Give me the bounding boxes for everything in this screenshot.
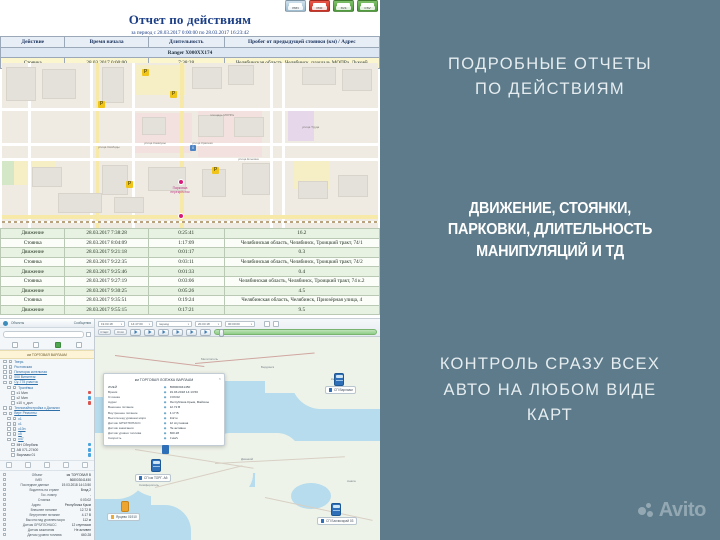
checkbox[interactable] — [3, 518, 6, 521]
object-tree: −Тверь−Ростовская−Пятигорск котельная−00… — [0, 359, 94, 458]
popup-value: Республика Крым, Майское — [170, 400, 220, 404]
checkbox[interactable] — [3, 488, 6, 491]
promo-line: ПОДРОБНЫЕ ОТЧЕТЫ — [380, 52, 720, 77]
expand-icon[interactable]: − — [9, 412, 13, 416]
calendar-icon[interactable] — [264, 321, 270, 327]
table-row: Движение28.03.2017 9:30:250:05:264.5 — [1, 286, 380, 296]
cell-start: 28.03.2017 9:55:15 — [65, 305, 148, 315]
popup-row: Высота над уровнем моря◉112 м — [108, 415, 220, 420]
table-row: Движение28.03.2017 9:25:460:01:330.4 — [1, 267, 380, 277]
sensor-icon: ◉ — [161, 385, 170, 389]
expand-icon[interactable]: − — [9, 360, 13, 364]
tab-messages[interactable]: Сообщения — [74, 321, 91, 325]
tree-item-label: Верт Ремонты — [14, 411, 37, 415]
street-label: улица Елькина — [238, 157, 259, 161]
alert-marker[interactable] — [121, 501, 129, 512]
list-view-icon[interactable] — [12, 342, 18, 348]
date-to-input[interactable]: 20.03.18▾ — [195, 321, 222, 327]
status-badge — [88, 448, 92, 452]
object-properties: Объекткм ТОРГОВАЯ ВIMEI868003041450После… — [0, 471, 94, 540]
city-label: Мелитополь — [201, 357, 218, 361]
popup-value: 868003041450 — [170, 385, 220, 389]
property-key: Стоянка — [38, 498, 50, 502]
expand-icon[interactable]: − — [9, 381, 13, 385]
expand-icon[interactable]: − — [13, 438, 17, 442]
checkbox[interactable] — [7, 432, 11, 436]
popup-row: ИМЕЙ◉868003041450 — [108, 385, 220, 390]
checkbox[interactable] — [3, 365, 7, 369]
parking-icon: P — [98, 101, 105, 108]
popup-key: Датчик зажигания — [108, 426, 161, 430]
cell-address: Челябинская область, Челябинск, Троицкий… — [224, 276, 379, 286]
promo-headline-2: ДВИЖЕНИЕ, СТОЯНКИ, ПАРКОВКИ, ДЛИТЕЛЬНОСТ… — [380, 198, 720, 262]
popup-header: км ТОРГОВАЯ ЛОЁЖКА ВАРЛААМ × — [104, 374, 224, 385]
promo-line: АВТО НА ЛЮБОМ ВИДЕ — [380, 378, 720, 404]
property-key: Внутреннее питание — [30, 513, 60, 517]
cell-action: Движение — [1, 267, 65, 277]
checkbox[interactable] — [3, 533, 6, 536]
online-status-icon[interactable] — [55, 342, 61, 348]
cell-address: Челябинская область, Челябинск, Троицкий… — [224, 257, 379, 267]
popup-value: 12 спутников — [170, 421, 220, 425]
sensor-icon: ◉ — [161, 421, 170, 425]
info-poi-icon: i — [190, 145, 196, 151]
property-value: - — [90, 493, 91, 497]
popup-row: Внутреннее питание◉4.17 В — [108, 410, 220, 415]
tree-item-label: Технолайнстройка к.Дальних — [14, 406, 60, 410]
stop-button[interactable]: Стоп — [114, 329, 127, 335]
cell-start: 28.03.2017 8:04:09 — [65, 238, 148, 248]
vehicle-group-row: Ranger X000XX174 — [1, 48, 380, 58]
speed-slider[interactable] — [214, 329, 377, 335]
cell-start: 28.03.2017 7:38:28 — [65, 229, 148, 239]
sensor-icon: ◉ — [161, 405, 170, 409]
tree-item-label: с47 — [18, 437, 23, 441]
checkbox[interactable] — [7, 386, 11, 390]
tree-item-label: с1 Мин — [17, 391, 28, 395]
checkbox[interactable] — [11, 396, 15, 400]
checkbox[interactable] — [3, 513, 6, 516]
expand-icon[interactable]: − — [13, 417, 17, 421]
property-value: 12 спутников — [72, 523, 91, 527]
property-key: Датчик GPS/ГЛОНАСС — [23, 523, 57, 527]
parking-icon: P — [212, 167, 219, 174]
promo-line: МАНИПУЛЯЦИЙ И ТД — [392, 241, 708, 262]
tree-item-label: АВ 071-27400 — [17, 448, 39, 452]
popup-value: 0:03:02 — [170, 395, 220, 399]
cell-action: Стоянка — [1, 296, 65, 306]
step-back-icon[interactable] — [130, 329, 141, 336]
property-row: Датчик уровня топлива660.28 — [3, 533, 91, 538]
sensor-icon: ◉ — [161, 411, 170, 415]
popup-key: Датчик GPS/ГЛОНАСС — [108, 421, 161, 425]
checkbox[interactable] — [11, 443, 15, 447]
screenshot-root: PRN PDF XLS CSV Отчет по действиям за пе… — [0, 0, 720, 540]
popup-key: Время — [108, 390, 161, 394]
rewind-icon[interactable] — [144, 329, 155, 336]
prev-point-icon[interactable] — [158, 329, 169, 336]
vehicle-marker-label[interactable]: СП Варлаам — [325, 386, 356, 394]
report-period: за период с 28.03.2017 0:00:00 по 28.03.… — [0, 28, 380, 36]
property-value: 0:03:02 — [80, 498, 91, 502]
more-icon[interactable] — [82, 462, 88, 468]
checkbox[interactable] — [3, 503, 6, 506]
property-key: IMEI — [35, 478, 42, 482]
tree-item-label: МН Сбербанк — [17, 443, 38, 447]
cell-address: 16.2 — [224, 229, 379, 239]
cell-action: Стоянка — [1, 257, 65, 267]
expand-icon[interactable]: − — [13, 432, 17, 436]
cell-address: Челябинская область, Челябинск, Приозёрн… — [224, 296, 379, 306]
refresh-icon[interactable] — [25, 462, 31, 468]
cell-duration: 1:17:09 — [148, 238, 224, 248]
tree-item-label: Ростовская — [14, 365, 32, 369]
vehicle-marker[interactable] — [151, 459, 161, 472]
popup-value: Не активен — [170, 426, 220, 430]
property-key: Датчик зажигания — [28, 528, 54, 532]
cell-duration: 0:03:06 — [148, 276, 224, 286]
print-icon[interactable]: PRN — [285, 0, 306, 12]
property-value: 19.03.2018 14:13:50 — [62, 483, 91, 487]
city-label: Анапа — [347, 479, 356, 483]
status-badge — [88, 396, 92, 400]
popup-pointer-marker — [162, 445, 169, 454]
tree-item-label: Варлаам 01 — [17, 453, 36, 457]
table-header-row: Действие Время начала Длительность Пробе… — [1, 37, 380, 48]
cell-address: 0.4 — [224, 267, 379, 277]
checkbox[interactable] — [3, 483, 6, 486]
city-label: Джанкой — [241, 457, 253, 461]
tree-item-label: с10н — [18, 427, 25, 431]
filter-icon[interactable] — [86, 332, 91, 337]
export-track-icon[interactable] — [273, 321, 279, 327]
play-icon[interactable] — [172, 329, 183, 336]
popup-row: Датчик зажигания◉Не активен — [108, 425, 220, 430]
tab-objects[interactable]: Объекты — [11, 321, 24, 325]
checkbox[interactable] — [11, 401, 15, 405]
popup-value: 12.72 В — [170, 405, 220, 409]
table-row: Движение28.03.2017 9:55:150:17:219.5 — [1, 305, 380, 315]
street-label: улица Свободы — [98, 145, 120, 149]
popup-value: 19.03.2018 14:13:50 — [170, 390, 220, 394]
stop-marker[interactable] — [178, 179, 184, 185]
property-key: Адрес — [32, 503, 41, 507]
checkbox[interactable] — [11, 391, 15, 395]
cell-action: Стоянка — [1, 276, 65, 286]
status-badge — [88, 391, 92, 395]
checkbox[interactable] — [11, 453, 15, 457]
stop-marker[interactable] — [178, 213, 184, 219]
popup-row: Датчик GPS/ГЛОНАСС◉12 спутников — [108, 420, 220, 425]
status-badge — [88, 443, 92, 447]
property-key: Датчик уровня топлива — [27, 533, 61, 537]
interval-select[interactable]: период▾ — [156, 321, 192, 327]
cell-duration: 0:01:17 — [148, 248, 224, 258]
popup-key: Высота над уровнем моря — [108, 416, 161, 420]
popup-row: Стоянка◉0:03:02 — [108, 395, 220, 400]
property-key: Высота над уровнем моря — [26, 518, 65, 522]
pdf-export-icon[interactable]: PDF — [309, 0, 330, 12]
tracking-app-window: Объекты Сообщения км ТОРГОВАЯ ВАРЛААМ −Т… — [0, 318, 380, 540]
sensor-icon: ◉ — [161, 426, 170, 430]
export-buttons: PRN PDF XLS CSV — [285, 0, 378, 12]
street-label: улица Красная — [192, 141, 213, 145]
sensor-icon: ◉ — [161, 390, 170, 394]
checkbox[interactable] — [11, 448, 15, 452]
table-row: Стоянка28.03.2017 9:22:350:03:11Челябинс… — [1, 257, 380, 267]
promo-line: ДВИЖЕНИЕ, СТОЯНКИ, — [392, 198, 708, 219]
chart-icon[interactable] — [63, 462, 69, 468]
table-row: Стоянка28.03.2017 9:35:510:19:24Челябинс… — [1, 296, 380, 306]
vehicle-info-popup: км ТОРГОВАЯ ЛОЁЖКА ВАРЛААМ × ИМЕЙ◉868003… — [103, 373, 225, 446]
sensor-icon: ◉ — [161, 436, 170, 440]
search-row — [0, 328, 94, 341]
sensor-icon: ◉ — [161, 395, 170, 399]
objects-sidebar: Объекты Сообщения км ТОРГОВАЯ ВАРЛААМ −Т… — [0, 319, 95, 540]
region-map[interactable]: Мелитополь Бердянск Джанкой Керчь Симфер… — [95, 337, 380, 540]
cell-duration: 0:17:21 — [148, 305, 224, 315]
promo-line: ПАРКОВКИ, ДЛИТЕЛЬНОСТЬ — [392, 219, 708, 240]
parking-icon: P — [170, 91, 177, 98]
cell-start: 28.03.2017 9:21:18 — [65, 248, 148, 258]
expand-icon[interactable]: − — [13, 386, 17, 390]
promo-line: КОНТРОЛЬ СРАЗУ ВСЕХ — [380, 352, 720, 378]
property-value: км ТОРГОВАЯ В — [67, 473, 91, 477]
tree-item-label: с2 Мин — [17, 396, 28, 400]
checkbox[interactable] — [7, 422, 11, 426]
popup-value: 4.17 В — [170, 411, 220, 415]
clock-icon[interactable] — [44, 462, 50, 468]
checkbox[interactable] — [7, 427, 11, 431]
cell-address: Челябинская область, Челябинск, Троицкий… — [224, 238, 379, 248]
search-input[interactable] — [3, 331, 84, 338]
forward-icon[interactable] — [200, 329, 211, 336]
promo-line: КАРТ — [380, 403, 720, 429]
popup-key: Датчик уровня топлива — [108, 431, 161, 435]
cell-action: Движение — [1, 286, 65, 296]
checkbox[interactable] — [3, 478, 6, 481]
date-range-row: 19.03.18▾ 14:47:00▾ период▾ 20.03.18▾ 00… — [95, 319, 380, 327]
property-value: 868003041450 — [70, 478, 91, 482]
col-duration: Длительность — [148, 37, 224, 48]
checkbox[interactable] — [3, 473, 6, 476]
sensor-icon: ◉ — [161, 416, 170, 420]
sensor-icon: ◉ — [161, 400, 170, 404]
parking-icon: P — [126, 181, 133, 188]
tree-item-label: с1 — [18, 417, 22, 421]
expand-icon[interactable]: − — [9, 370, 13, 374]
expand-icon[interactable]: − — [13, 427, 17, 431]
property-value: Влад 2 — [81, 488, 91, 492]
cell-address: 0.3 — [224, 248, 379, 258]
city-map[interactable]: P P P P P i Парковкаперекрёсток площадь … — [2, 63, 378, 228]
checkbox[interactable] — [3, 360, 7, 364]
promo-headline-3: КОНТРОЛЬ СРАЗУ ВСЕХ АВТО НА ЛЮБОМ ВИДЕ К… — [380, 352, 720, 429]
checkbox[interactable] — [7, 417, 11, 421]
cell-start: 28.03.2017 9:25:46 — [65, 267, 148, 277]
col-action: Действие — [1, 37, 65, 48]
popup-value: 0 км/ч — [170, 436, 220, 440]
checkbox[interactable] — [3, 381, 7, 385]
xls-export-icon[interactable]: XLS — [333, 0, 354, 12]
tree-item[interactable]: Варлаам 01 — [0, 452, 94, 457]
popup-row: Адрес◉Республика Крым, Майское — [108, 400, 220, 405]
cell-action: Движение — [1, 229, 65, 239]
tree-item-label: с5 — [18, 432, 22, 436]
popup-row: Датчик уровня топлива◉660.28 — [108, 430, 220, 435]
cell-duration: 0:03:11 — [148, 257, 224, 267]
popup-row: Время◉19.03.2018 14:13:50 — [108, 390, 220, 395]
tree-item-label: Пятигорск котельная — [14, 370, 47, 374]
street-label: улица Коммуны — [144, 141, 166, 145]
tree-item-label: с1 — [18, 422, 22, 426]
cell-start: 28.03.2017 9:22:35 — [65, 257, 148, 267]
vehicle-marker[interactable] — [334, 373, 344, 386]
checkbox[interactable] — [3, 493, 6, 496]
edit-icon[interactable] — [6, 462, 12, 468]
time-to-input[interactable]: 00:00:00▾ — [225, 321, 255, 327]
table-row: Движение28.03.2017 7:38:280:25:4116.2 — [1, 229, 380, 239]
status-badge — [88, 453, 92, 457]
cell-duration: 0:25:41 — [148, 229, 224, 239]
next-point-icon[interactable] — [186, 329, 197, 336]
date-from-input[interactable]: 19.03.18▾ — [98, 321, 125, 327]
property-key: Последние данные — [20, 483, 49, 487]
property-key: Гос. номер — [41, 493, 57, 497]
checkbox[interactable] — [3, 370, 7, 374]
tree-item-label: Су-775 участок — [14, 380, 38, 384]
cell-start: 28.03.2017 9:30:25 — [65, 286, 148, 296]
cell-duration: 0:05:26 — [148, 286, 224, 296]
grid-view-icon[interactable] — [33, 342, 39, 348]
avito-logo-icon — [638, 502, 655, 519]
sidebar-icon-toolbar — [0, 341, 94, 350]
avito-watermark: Avito — [638, 499, 706, 522]
street-label: площадь МОПРа — [210, 113, 234, 117]
popup-key: Внутреннее питание — [108, 411, 161, 415]
property-key: Внешнее питание — [31, 508, 57, 512]
city-label: Бердянск — [261, 365, 274, 369]
playback-toolbar: 19.03.18▾ 14:47:00▾ период▾ 20.03.18▾ 00… — [95, 319, 380, 337]
objects-icon — [3, 321, 8, 326]
avito-wordmark: Avito — [659, 499, 706, 522]
marker-label: Парковкаперекрёсток — [158, 187, 202, 195]
cell-address: 9.5 — [224, 305, 379, 315]
expand-icon[interactable]: − — [13, 422, 17, 426]
cell-address: 4.5 — [224, 286, 379, 296]
tree-item-label: с10 ч_дол — [17, 401, 33, 405]
checkbox[interactable] — [3, 412, 7, 416]
property-key: Водитель на стране — [29, 488, 59, 492]
checkbox[interactable] — [3, 528, 6, 531]
property-value: 4.17 В — [82, 513, 91, 517]
vehicle-marker[interactable] — [331, 503, 341, 516]
street-label: улица Труда — [302, 125, 319, 129]
property-value: Республика Крым — [65, 503, 91, 507]
promo-line: ПО ДЕЙСТВИЯМ — [380, 77, 720, 102]
popup-key: Адрес — [108, 400, 161, 404]
property-value: 112 м — [83, 518, 91, 522]
csv-export-icon[interactable]: CSV — [357, 0, 378, 12]
expand-icon[interactable]: − — [9, 375, 13, 379]
cell-duration: 0:19:24 — [148, 296, 224, 306]
cell-start: 28.03.2017 9:27:19 — [65, 276, 148, 286]
vehicle-marker-label[interactable]: СП км ТОРГ. Ай — [135, 474, 171, 482]
settings-icon[interactable] — [76, 342, 82, 348]
playback-controls-row: Старт Стоп — [95, 327, 380, 338]
table-row: Стоянка28.03.2017 9:27:190:03:06Челябинс… — [1, 276, 380, 286]
promo-headline-1: ПОДРОБНЫЕ ОТЧЕТЫ ПО ДЕЙСТВИЯМ — [380, 52, 720, 102]
table-row: Движение28.03.2017 9:21:180:01:170.3 — [1, 248, 380, 258]
vehicle-marker-label[interactable]: СП Бахчисарай 03 — [317, 517, 357, 525]
property-value: 12.72 В — [80, 508, 91, 512]
parking-icon: P — [142, 69, 149, 76]
cell-start: 28.03.2017 9:35:51 — [65, 296, 148, 306]
property-key: Объект — [32, 473, 43, 477]
popup-value: 660.28 — [170, 431, 220, 435]
tree-item-label: Тралёвка — [18, 386, 33, 390]
close-icon[interactable]: × — [219, 377, 221, 381]
col-start-time: Время начала — [65, 37, 148, 48]
popup-key: Стоянка — [108, 395, 161, 399]
popup-key: Внешнее питание — [108, 405, 161, 409]
checkbox[interactable] — [3, 523, 6, 526]
cell-action: Стоянка — [1, 238, 65, 248]
left-collage: PRN PDF XLS CSV Отчет по действиям за пе… — [0, 0, 380, 540]
popup-title: км ТОРГОВАЯ ЛОЁЖКА ВАРЛААМ — [135, 378, 193, 382]
vehicle-name: Ranger X000XX174 — [1, 48, 380, 58]
checkbox[interactable] — [3, 375, 7, 379]
play-button[interactable]: Старт — [98, 329, 111, 335]
expand-icon[interactable]: − — [9, 406, 13, 410]
report-screenshot: PRN PDF XLS CSV Отчет по действиям за пе… — [0, 0, 380, 318]
status-badge — [88, 401, 92, 405]
checkbox[interactable] — [7, 438, 11, 442]
sidebar-group-title[interactable]: км ТОРГОВАЯ ВАРЛААМ — [0, 350, 94, 359]
tree-item-label: Тверь — [14, 360, 23, 364]
checkbox[interactable] — [3, 508, 6, 511]
sidebar-tabs: Объекты Сообщения — [0, 319, 94, 328]
detail-table: Движение28.03.2017 7:38:280:25:4116.2Сто… — [0, 228, 380, 315]
checkbox[interactable] — [3, 406, 7, 410]
expand-icon[interactable]: − — [9, 365, 13, 369]
property-value: Не активен — [74, 528, 91, 532]
cell-action: Движение — [1, 248, 65, 258]
popup-value: 112 м — [170, 416, 220, 420]
sensor-icon: ◉ — [161, 431, 170, 435]
promo-panel: ПОДРОБНЫЕ ОТЧЕТЫ ПО ДЕЙСТВИЯМ ДВИЖЕНИЕ, … — [380, 0, 720, 540]
alert-marker-label[interactable]: Ярцево 01910 — [107, 513, 140, 521]
popup-rows: ИМЕЙ◉868003041450Время◉19.03.2018 14:13:… — [104, 385, 224, 445]
popup-key: ИМЕЙ — [108, 385, 161, 389]
popup-key: Скорость — [108, 436, 161, 440]
col-distance-address: Пробег от предыдущей стоянки (км) / Адре… — [224, 37, 379, 48]
sidebar-bottom-toolbar — [0, 460, 94, 471]
time-from-input[interactable]: 14:47:00▾ — [128, 321, 153, 327]
popup-row: Внешнее питание◉12.72 В — [108, 405, 220, 410]
checkbox[interactable] — [3, 498, 6, 501]
property-value: 660.28 — [81, 533, 91, 537]
popup-row: Скорость◉0 км/ч — [108, 435, 220, 440]
detail-table-wrap: Движение28.03.2017 7:38:280:25:4116.2Сто… — [0, 228, 380, 315]
cell-action: Движение — [1, 305, 65, 315]
cell-duration: 0:01:33 — [148, 267, 224, 277]
city-label: Симферополь — [139, 483, 159, 487]
tree-item-label: 000 Винилтэк — [14, 375, 35, 379]
table-row: Стоянка28.03.2017 8:04:091:17:09Челябинс… — [1, 238, 380, 248]
